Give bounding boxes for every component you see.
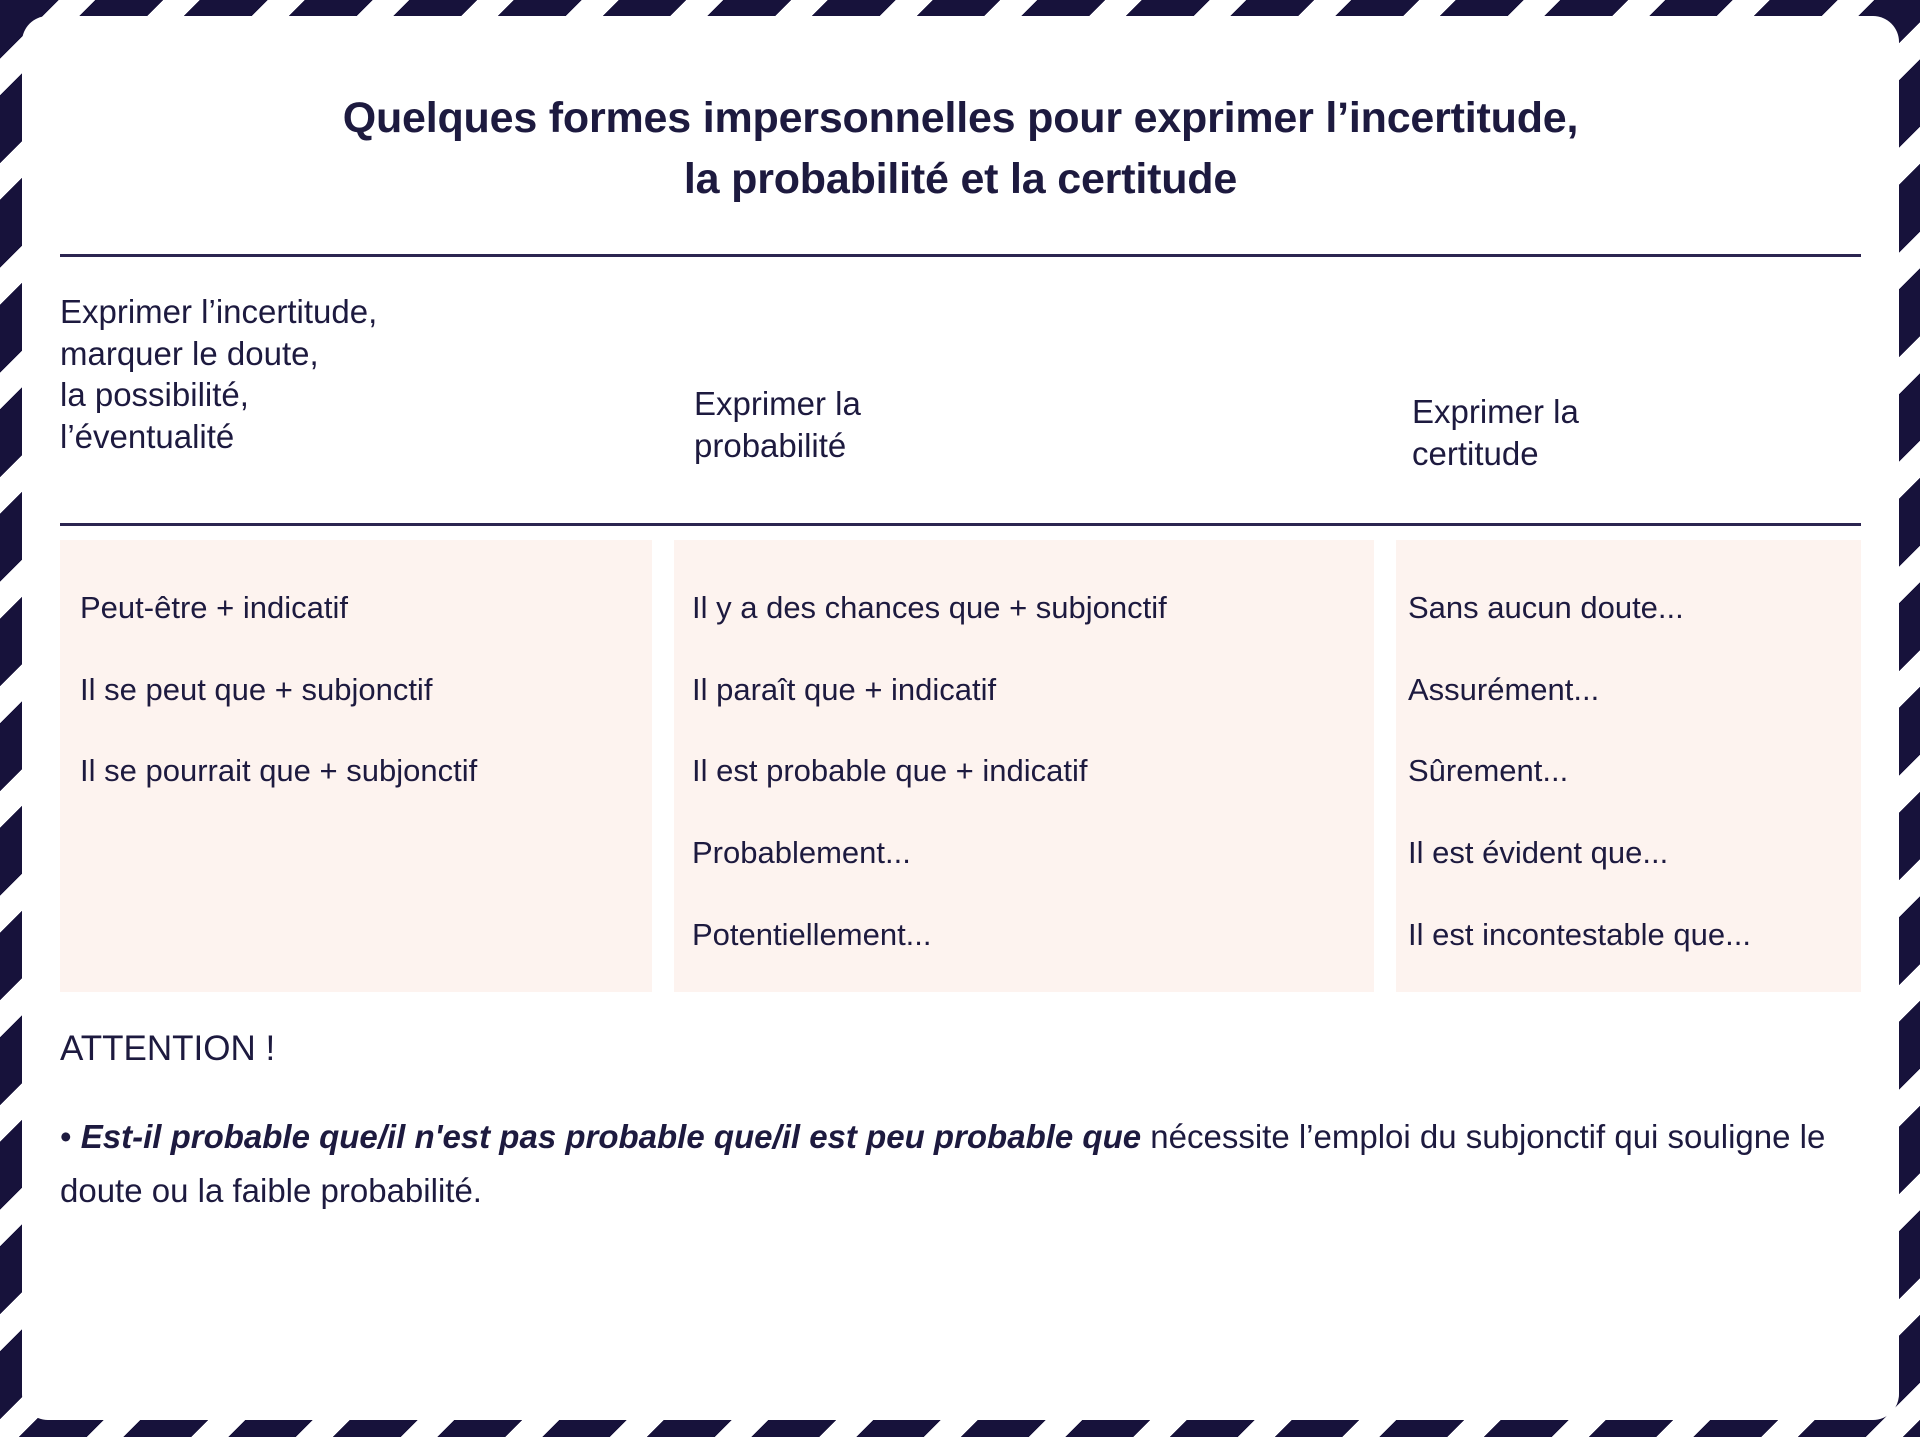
column-header-uncertainty: Exprimer l’incertitude, marquer le doute… (60, 279, 672, 497)
list-uncertainty: Peut-être + indicatif Il se peut que + s… (80, 588, 632, 791)
attention-emphasis: Est-il probable que/il n'est pas probabl… (81, 1118, 1141, 1155)
list-item: Il est probable que + indicatif (692, 751, 1354, 791)
list-item: Il se peut que + subjonctif (80, 670, 632, 710)
page-title: Quelques formes impersonnelles pour expr… (22, 16, 1899, 210)
column-header-certainty: Exprimer la certitude (1394, 279, 1861, 497)
column-header-line: probabilité (694, 425, 1394, 467)
title-line-2: la probabilité et la certitude (202, 149, 1719, 210)
panel-certainty: Sans aucun doute... Assurément... Sûreme… (1396, 540, 1861, 992)
column-header-line: certitude (1412, 433, 1861, 475)
attention-body: • Est-il probable que/il n'est pas proba… (60, 1110, 1861, 1217)
list-item: Probablement... (692, 833, 1354, 873)
column-header-line: Exprimer la (694, 383, 1394, 425)
attention-section: ATTENTION ! • Est-il probable que/il n'e… (22, 992, 1899, 1217)
column-header-line: marquer le doute, (60, 333, 672, 375)
list-item: Potentiellement... (692, 915, 1354, 955)
list-item: Il paraît que + indicatif (692, 670, 1354, 710)
list-item: Sans aucun doute... (1408, 588, 1841, 628)
list-item: Peut-être + indicatif (80, 588, 632, 628)
column-header-line: Exprimer la (1412, 391, 1861, 433)
list-item: Il se pourrait que + subjonctif (80, 751, 632, 791)
list-probability: Il y a des chances que + subjonctif Il p… (692, 588, 1354, 954)
list-item: Il y a des chances que + subjonctif (692, 588, 1354, 628)
column-header-line: Exprimer l’incertitude, (60, 291, 672, 333)
panel-probability: Il y a des chances que + subjonctif Il p… (674, 540, 1374, 992)
list-item: Sûrement... (1408, 751, 1841, 791)
slide-card: Quelques formes impersonnelles pour expr… (22, 16, 1899, 1420)
column-header-line: la possibilité, (60, 374, 672, 416)
list-item: Assurément... (1408, 670, 1841, 710)
list-item: Il est incontestable que... (1408, 915, 1841, 955)
column-header-row: Exprimer l’incertitude, marquer le doute… (22, 279, 1899, 497)
column-header-probability: Exprimer la probabilité (672, 279, 1394, 497)
column-header-line: l’éventualité (60, 416, 672, 458)
list-certainty: Sans aucun doute... Assurément... Sûreme… (1408, 588, 1841, 954)
columns-panel-row: Peut-être + indicatif Il se peut que + s… (22, 540, 1899, 992)
divider-headers (60, 523, 1861, 526)
list-item: Il est évident que... (1408, 833, 1841, 873)
panel-uncertainty: Peut-être + indicatif Il se peut que + s… (60, 540, 652, 992)
title-line-1: Quelques formes impersonnelles pour expr… (202, 88, 1719, 149)
divider-top (60, 254, 1861, 257)
attention-bullet: • (60, 1118, 81, 1155)
attention-title: ATTENTION ! (60, 1028, 1861, 1070)
